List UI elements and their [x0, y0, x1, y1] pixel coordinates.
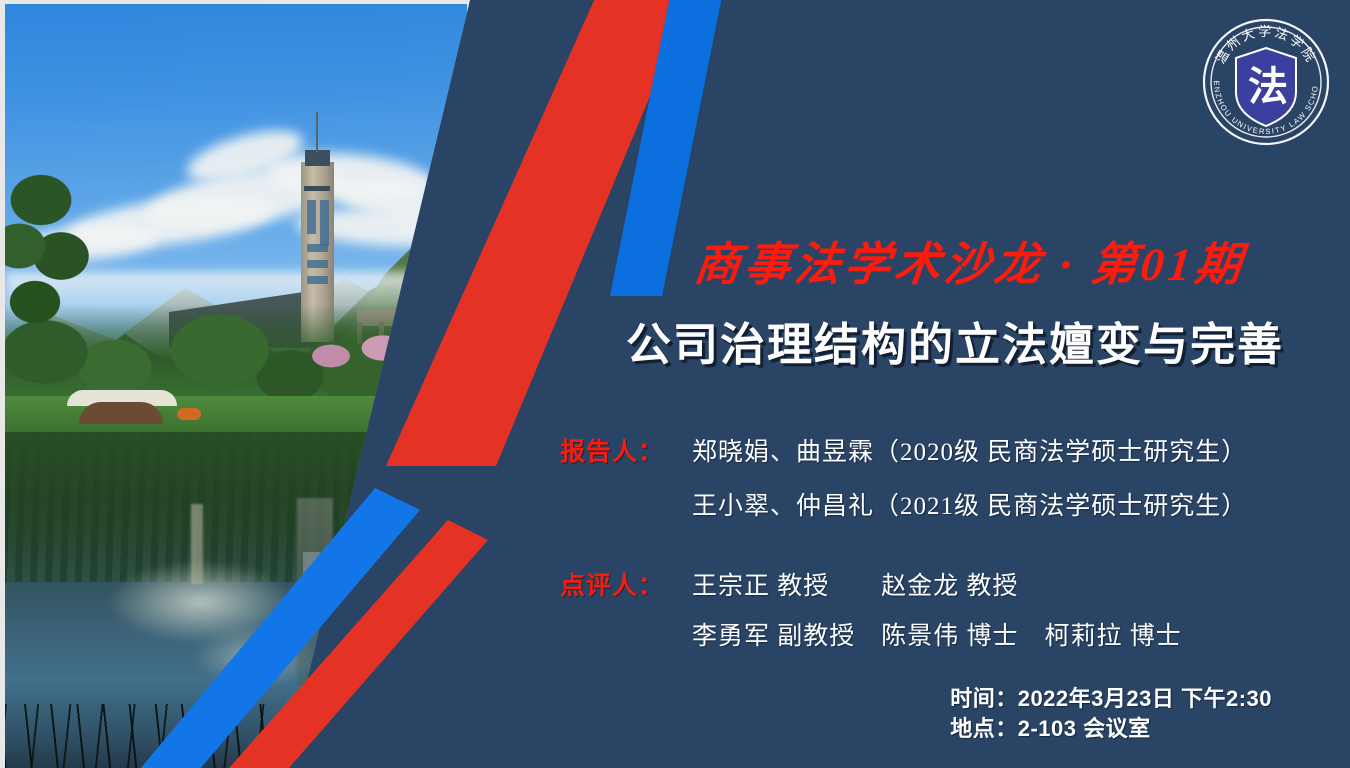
speaker-line-2: 王小翠、仲昌礼（2021级 民商法学硕士研究生） — [692, 486, 1247, 522]
event-place: 地点：2-103 会议室 — [950, 714, 1272, 744]
photo-image — [5, 4, 467, 768]
campus-photo — [0, 0, 470, 768]
event-time: 时间：2022年3月23日 下午2:30 — [950, 684, 1272, 714]
lake-post-reflection — [191, 504, 203, 584]
reviewers-row: 李勇军 副教授 陈景伟 博士 柯莉拉 博士 — [560, 616, 1182, 652]
page-title: 公司治理结构的立法嬗变与完善 — [560, 308, 1350, 373]
speaker-line-1: 郑晓娟、曲昱霖（2020级 民商法学硕士研究生） — [692, 432, 1247, 468]
speakers-row: 报告人： 郑晓娟、曲昱霖（2020级 民商法学硕士研究生） — [560, 432, 1247, 468]
logo-emblem-icon: 温州大学法学院 WENZHOU UNIVERSITY LAW SCHOOL 法 — [1198, 14, 1334, 150]
foreground-tree — [5, 160, 105, 360]
tower-crown — [305, 150, 330, 166]
tower-window — [307, 244, 328, 252]
event-meta: 时间：2022年3月23日 下午2:30 地点：2-103 会议室 — [950, 684, 1272, 745]
reviewers-block: 点评人： 王宗正 教授 赵金龙 教授 李勇军 副教授 陈景伟 博士 柯莉拉 博士 — [560, 566, 1182, 666]
tower-band — [304, 186, 330, 191]
tower-spire — [316, 112, 318, 152]
presentation-slide: 温州大学法学院 WENZHOU UNIVERSITY LAW SCHOOL 法 … — [0, 0, 1350, 768]
speakers-block: 报告人： 郑晓娟、曲昱霖（2020级 民商法学硕士研究生） 王小翠、仲昌礼（20… — [560, 432, 1247, 540]
speakers-label: 报告人： — [560, 432, 692, 468]
tower-window — [307, 260, 328, 268]
speakers-row: 王小翠、仲昌礼（2021级 民商法学硕士研究生） — [560, 486, 1247, 522]
university-logo: 温州大学法学院 WENZHOU UNIVERSITY LAW SCHOOL 法 — [1198, 14, 1334, 150]
series-title: 商事法学术沙龙 · 第01期 — [597, 228, 1344, 294]
tower-window — [307, 200, 316, 234]
reviewers-row: 点评人： 王宗正 教授 赵金龙 教授 — [560, 566, 1182, 602]
reviewers-label: 点评人： — [560, 566, 692, 602]
bridge-arch-shadow — [79, 402, 163, 424]
svg-text:法: 法 — [1248, 64, 1288, 109]
reviewer-line-2: 李勇军 副教授 陈景伟 博士 柯莉拉 博士 — [692, 616, 1182, 652]
tower-window — [307, 276, 328, 284]
reviewer-line-1: 王宗正 教授 赵金龙 教授 — [692, 566, 1019, 602]
tower-window — [320, 200, 329, 246]
lawn-object — [177, 408, 201, 420]
